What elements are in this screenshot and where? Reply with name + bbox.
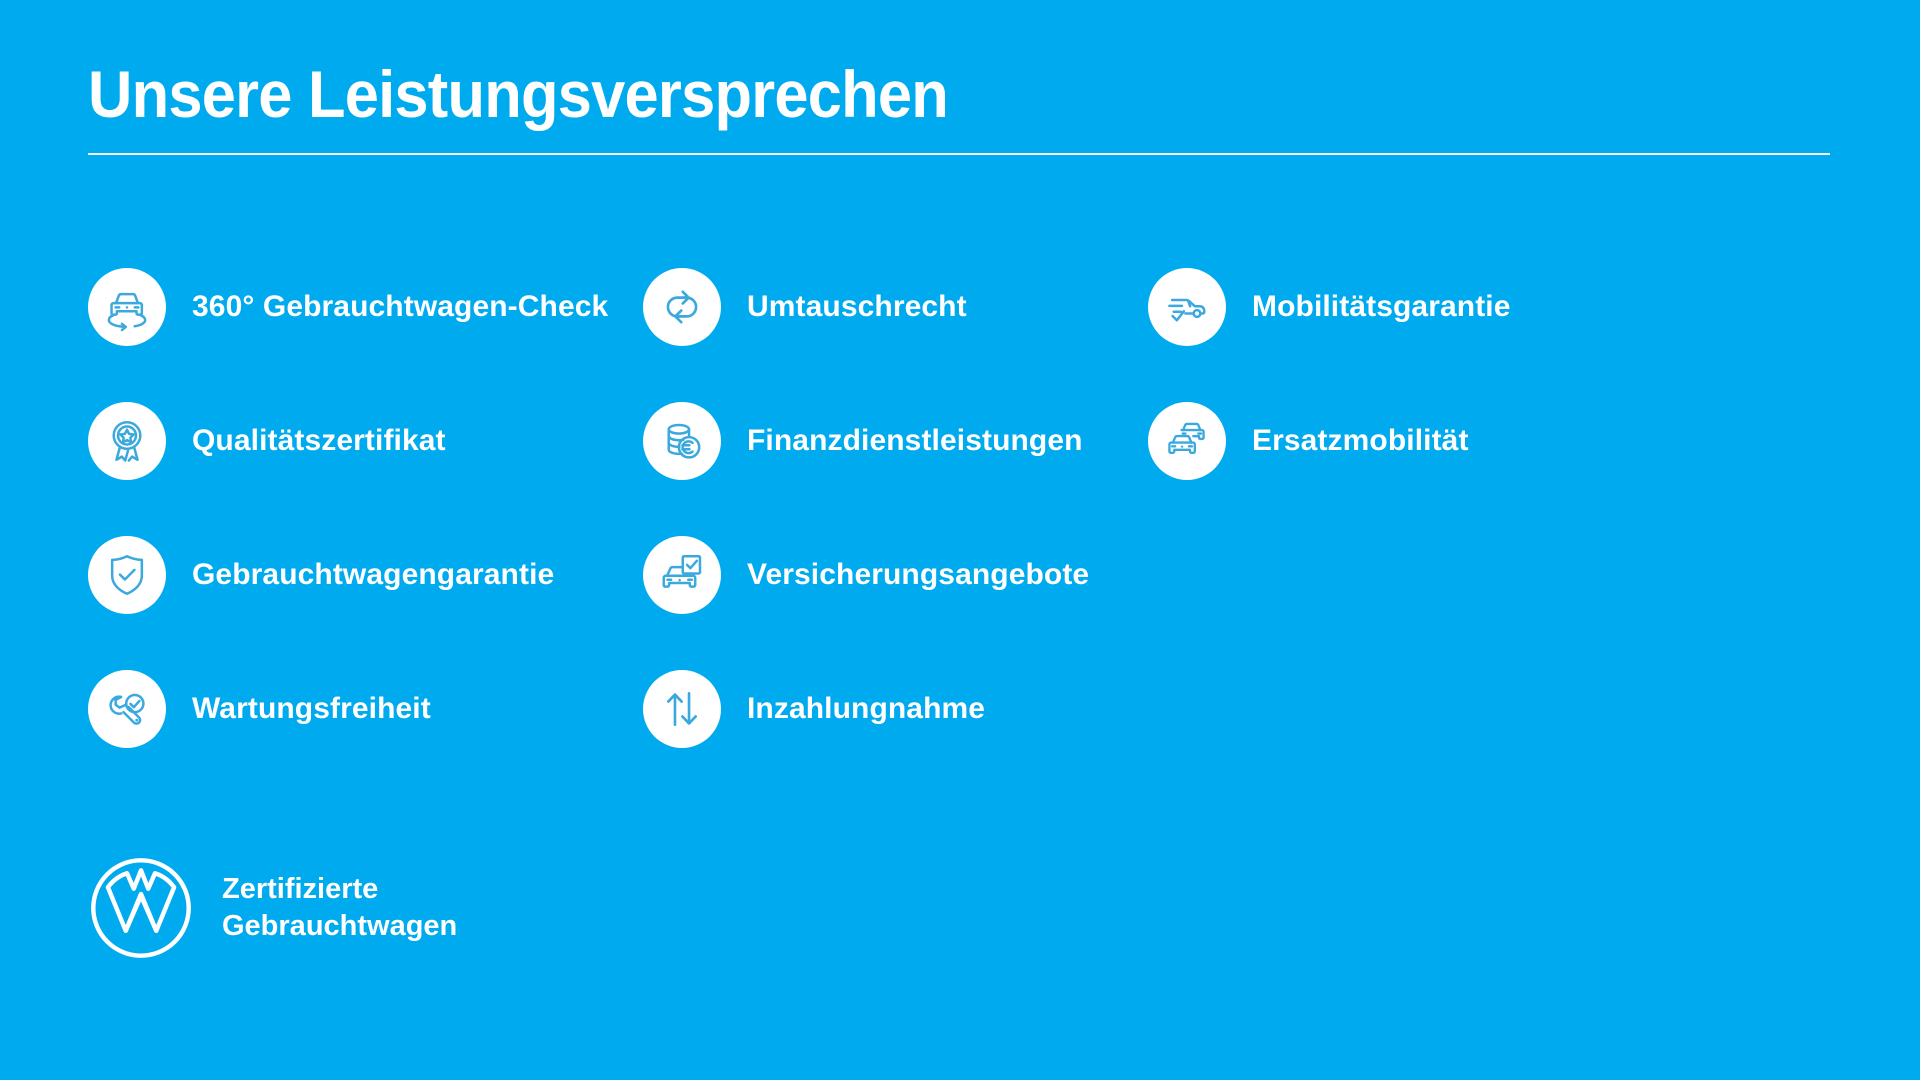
promise-label: Qualitätszertifikat (192, 424, 446, 459)
promise-slide: Unsere Leistungsversprechen (0, 0, 1920, 1080)
promise-label: Mobilitätsgarantie (1252, 290, 1511, 325)
volkswagen-logo-icon (88, 855, 194, 961)
promise-item-qualitaetszertifikat[interactable]: Qualitätszertifikat (88, 396, 643, 486)
promise-item-wartungsfreiheit[interactable]: Wartungsfreiheit (88, 664, 643, 754)
exchange-arrows-icon (643, 268, 721, 346)
promise-item-finanzdienstleistungen[interactable]: Finanzdienstleistungen (643, 396, 1148, 486)
coins-euro-icon (643, 402, 721, 480)
promise-item-ersatzmobilitaet[interactable]: Ersatzmobilität (1148, 396, 1708, 486)
promise-label: Finanzdienstleistungen (747, 424, 1083, 459)
wrench-check-icon (88, 670, 166, 748)
award-rosette-icon (88, 402, 166, 480)
two-cars-icon (1148, 402, 1226, 480)
moving-car-check-icon (1148, 268, 1226, 346)
shield-check-icon (88, 536, 166, 614)
page-title: Unsere Leistungsversprechen (88, 60, 1708, 129)
promise-item-360-check[interactable]: 360° Gebrauchtwagen-Check (88, 262, 643, 352)
up-down-arrows-icon (643, 670, 721, 748)
promise-label: Gebrauchtwagengarantie (192, 558, 554, 593)
promise-column-3: Mobilitätsgarantie (1148, 262, 1708, 486)
promise-label: 360° Gebrauchtwagen-Check (192, 290, 608, 325)
brand-line-1: Zertifizierte (222, 871, 457, 908)
promise-label: Umtauschrecht (747, 290, 967, 325)
promise-label: Ersatzmobilität (1252, 424, 1469, 459)
brand-text: Zertifizierte Gebrauchtwagen (222, 871, 457, 945)
promise-item-gebrauchtwagengarantie[interactable]: Gebrauchtwagengarantie (88, 530, 643, 620)
title-divider (88, 153, 1830, 155)
promise-item-inzahlungnahme[interactable]: Inzahlungnahme (643, 664, 1148, 754)
promise-column-1: 360° Gebrauchtwagen-Check Qualitätszerti… (88, 262, 643, 754)
promise-label: Versicherungsangebote (747, 558, 1089, 593)
promise-item-umtauschrecht[interactable]: Umtauschrecht (643, 262, 1148, 352)
car-checkbox-icon (643, 536, 721, 614)
header: Unsere Leistungsversprechen (88, 60, 1830, 155)
promise-grid: 360° Gebrauchtwagen-Check Qualitätszerti… (88, 262, 1848, 754)
promise-label: Wartungsfreiheit (192, 692, 431, 727)
promise-item-versicherungsangebote[interactable]: Versicherungsangebote (643, 530, 1148, 620)
brand-lockup: Zertifizierte Gebrauchtwagen (88, 855, 457, 961)
promise-column-2: Umtauschrecht (643, 262, 1148, 754)
promise-label: Inzahlungnahme (747, 692, 985, 727)
brand-line-2: Gebrauchtwagen (222, 908, 457, 945)
promise-item-mobilitaetsgarantie[interactable]: Mobilitätsgarantie (1148, 262, 1708, 352)
car-360-check-icon (88, 268, 166, 346)
